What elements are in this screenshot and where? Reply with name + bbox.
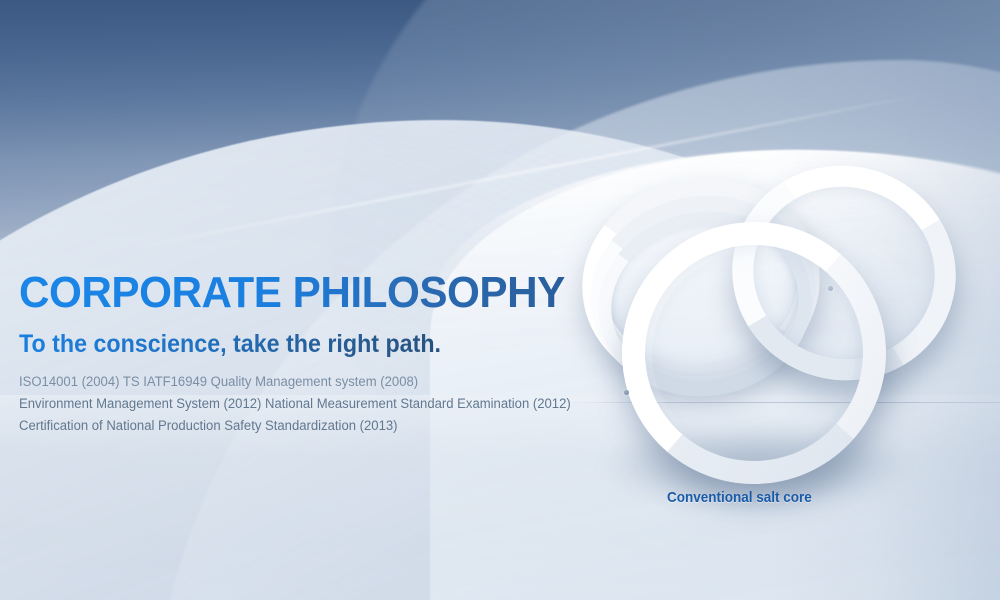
certification-list: ISO14001 (2004) TS IATF16949 Quality Man…	[19, 371, 619, 437]
page-title: CORPORATE PHILOSOPHY	[19, 271, 565, 315]
salt-core-pinhole-right	[828, 286, 833, 291]
page-subtitle: To the conscience, take the right path.	[19, 332, 441, 357]
certification-line-3: Certification of National Production Saf…	[19, 415, 601, 437]
certification-line-1: ISO14001 (2004) TS IATF16949 Quality Man…	[19, 371, 601, 393]
product-caption: Conventional salt core	[667, 490, 812, 505]
corporate-philosophy-banner: CORPORATE PHILOSOPHY To the conscience, …	[0, 0, 1000, 600]
certification-line-2: Environment Management System (2012) Nat…	[19, 393, 601, 415]
salt-core-pinhole-front	[624, 390, 629, 395]
salt-core-rings-image	[560, 140, 980, 520]
